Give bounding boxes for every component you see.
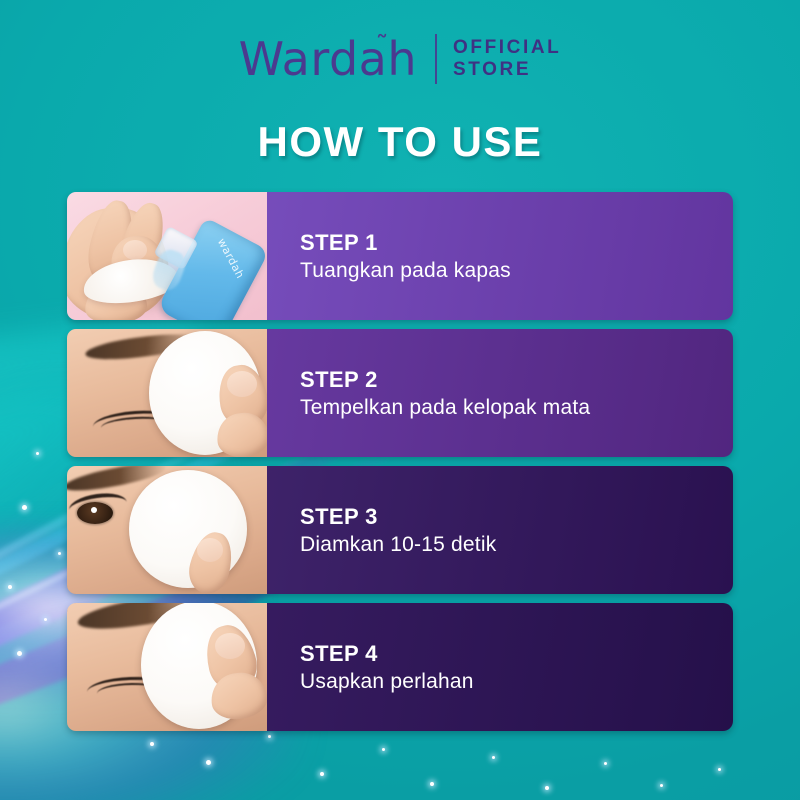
step2-illustration	[67, 329, 267, 457]
step-card: STEP 4 Usapkan perlahan	[67, 603, 733, 731]
brand-logo: Wardah ˜ OFFICIAL STORE	[0, 34, 800, 84]
sparkle	[718, 768, 721, 771]
brand-macron-accent: ˜	[375, 33, 389, 59]
brand-wordmark-text: Wardah	[239, 32, 417, 86]
step4-illustration	[67, 603, 267, 731]
sparkle	[660, 784, 663, 787]
step-label: STEP 1	[300, 230, 733, 256]
sparkle	[44, 618, 47, 621]
step-thumbnail	[67, 603, 267, 731]
sparkle	[206, 760, 211, 765]
sparkle	[382, 748, 385, 751]
fingernail	[227, 371, 257, 397]
brand-official-line1: OFFICIAL	[453, 37, 561, 59]
sparkle	[492, 756, 495, 759]
page-title: HOW TO USE	[0, 118, 800, 166]
step-panel: STEP 2 Tempelkan pada kelopak mata	[267, 329, 733, 457]
brand-divider	[435, 34, 437, 84]
step-card: wardah STEP 1 Tuangkan pada kapas	[67, 192, 733, 320]
sparkle	[17, 651, 22, 656]
step-label: STEP 4	[300, 641, 733, 667]
sparkle	[150, 742, 154, 746]
step-thumbnail	[67, 466, 267, 594]
fingernail	[123, 240, 147, 260]
step-panel: STEP 3 Diamkan 10-15 detik	[267, 466, 733, 594]
eye	[77, 502, 113, 524]
step-card: STEP 3 Diamkan 10-15 detik	[67, 466, 733, 594]
sparkle	[8, 585, 12, 589]
sparkle	[36, 452, 39, 455]
promo-poster: Wardah ˜ OFFICIAL STORE HOW TO USE	[0, 0, 800, 800]
sparkle	[58, 552, 61, 555]
step-label: STEP 3	[300, 504, 733, 530]
sparkle	[22, 505, 27, 510]
step-description: Tempelkan pada kelopak mata	[300, 396, 733, 420]
step-label: STEP 2	[300, 367, 733, 393]
step-description: Usapkan perlahan	[300, 670, 733, 694]
step-description: Tuangkan pada kapas	[300, 259, 733, 283]
fingernail	[197, 538, 223, 562]
brand-official-store: OFFICIAL STORE	[453, 37, 561, 82]
fingernail	[215, 633, 245, 659]
step3-illustration	[67, 466, 267, 594]
sparkle	[430, 782, 434, 786]
step-description: Diamkan 10-15 detik	[300, 533, 733, 557]
sparkle	[320, 772, 324, 776]
step-card: STEP 2 Tempelkan pada kelopak mata	[67, 329, 733, 457]
sparkle	[604, 762, 607, 765]
step-thumbnail	[67, 329, 267, 457]
step-panel: STEP 4 Usapkan perlahan	[267, 603, 733, 731]
sparkle	[545, 786, 549, 790]
eye-catchlight	[91, 507, 97, 513]
step1-illustration: wardah	[67, 192, 267, 320]
steps-list: wardah STEP 1 Tuangkan pada kapas	[67, 192, 733, 740]
brand-official-line2: STORE	[453, 59, 561, 81]
brand-wordmark: Wardah ˜	[239, 36, 419, 82]
step-thumbnail: wardah	[67, 192, 267, 320]
step-panel: STEP 1 Tuangkan pada kapas	[267, 192, 733, 320]
